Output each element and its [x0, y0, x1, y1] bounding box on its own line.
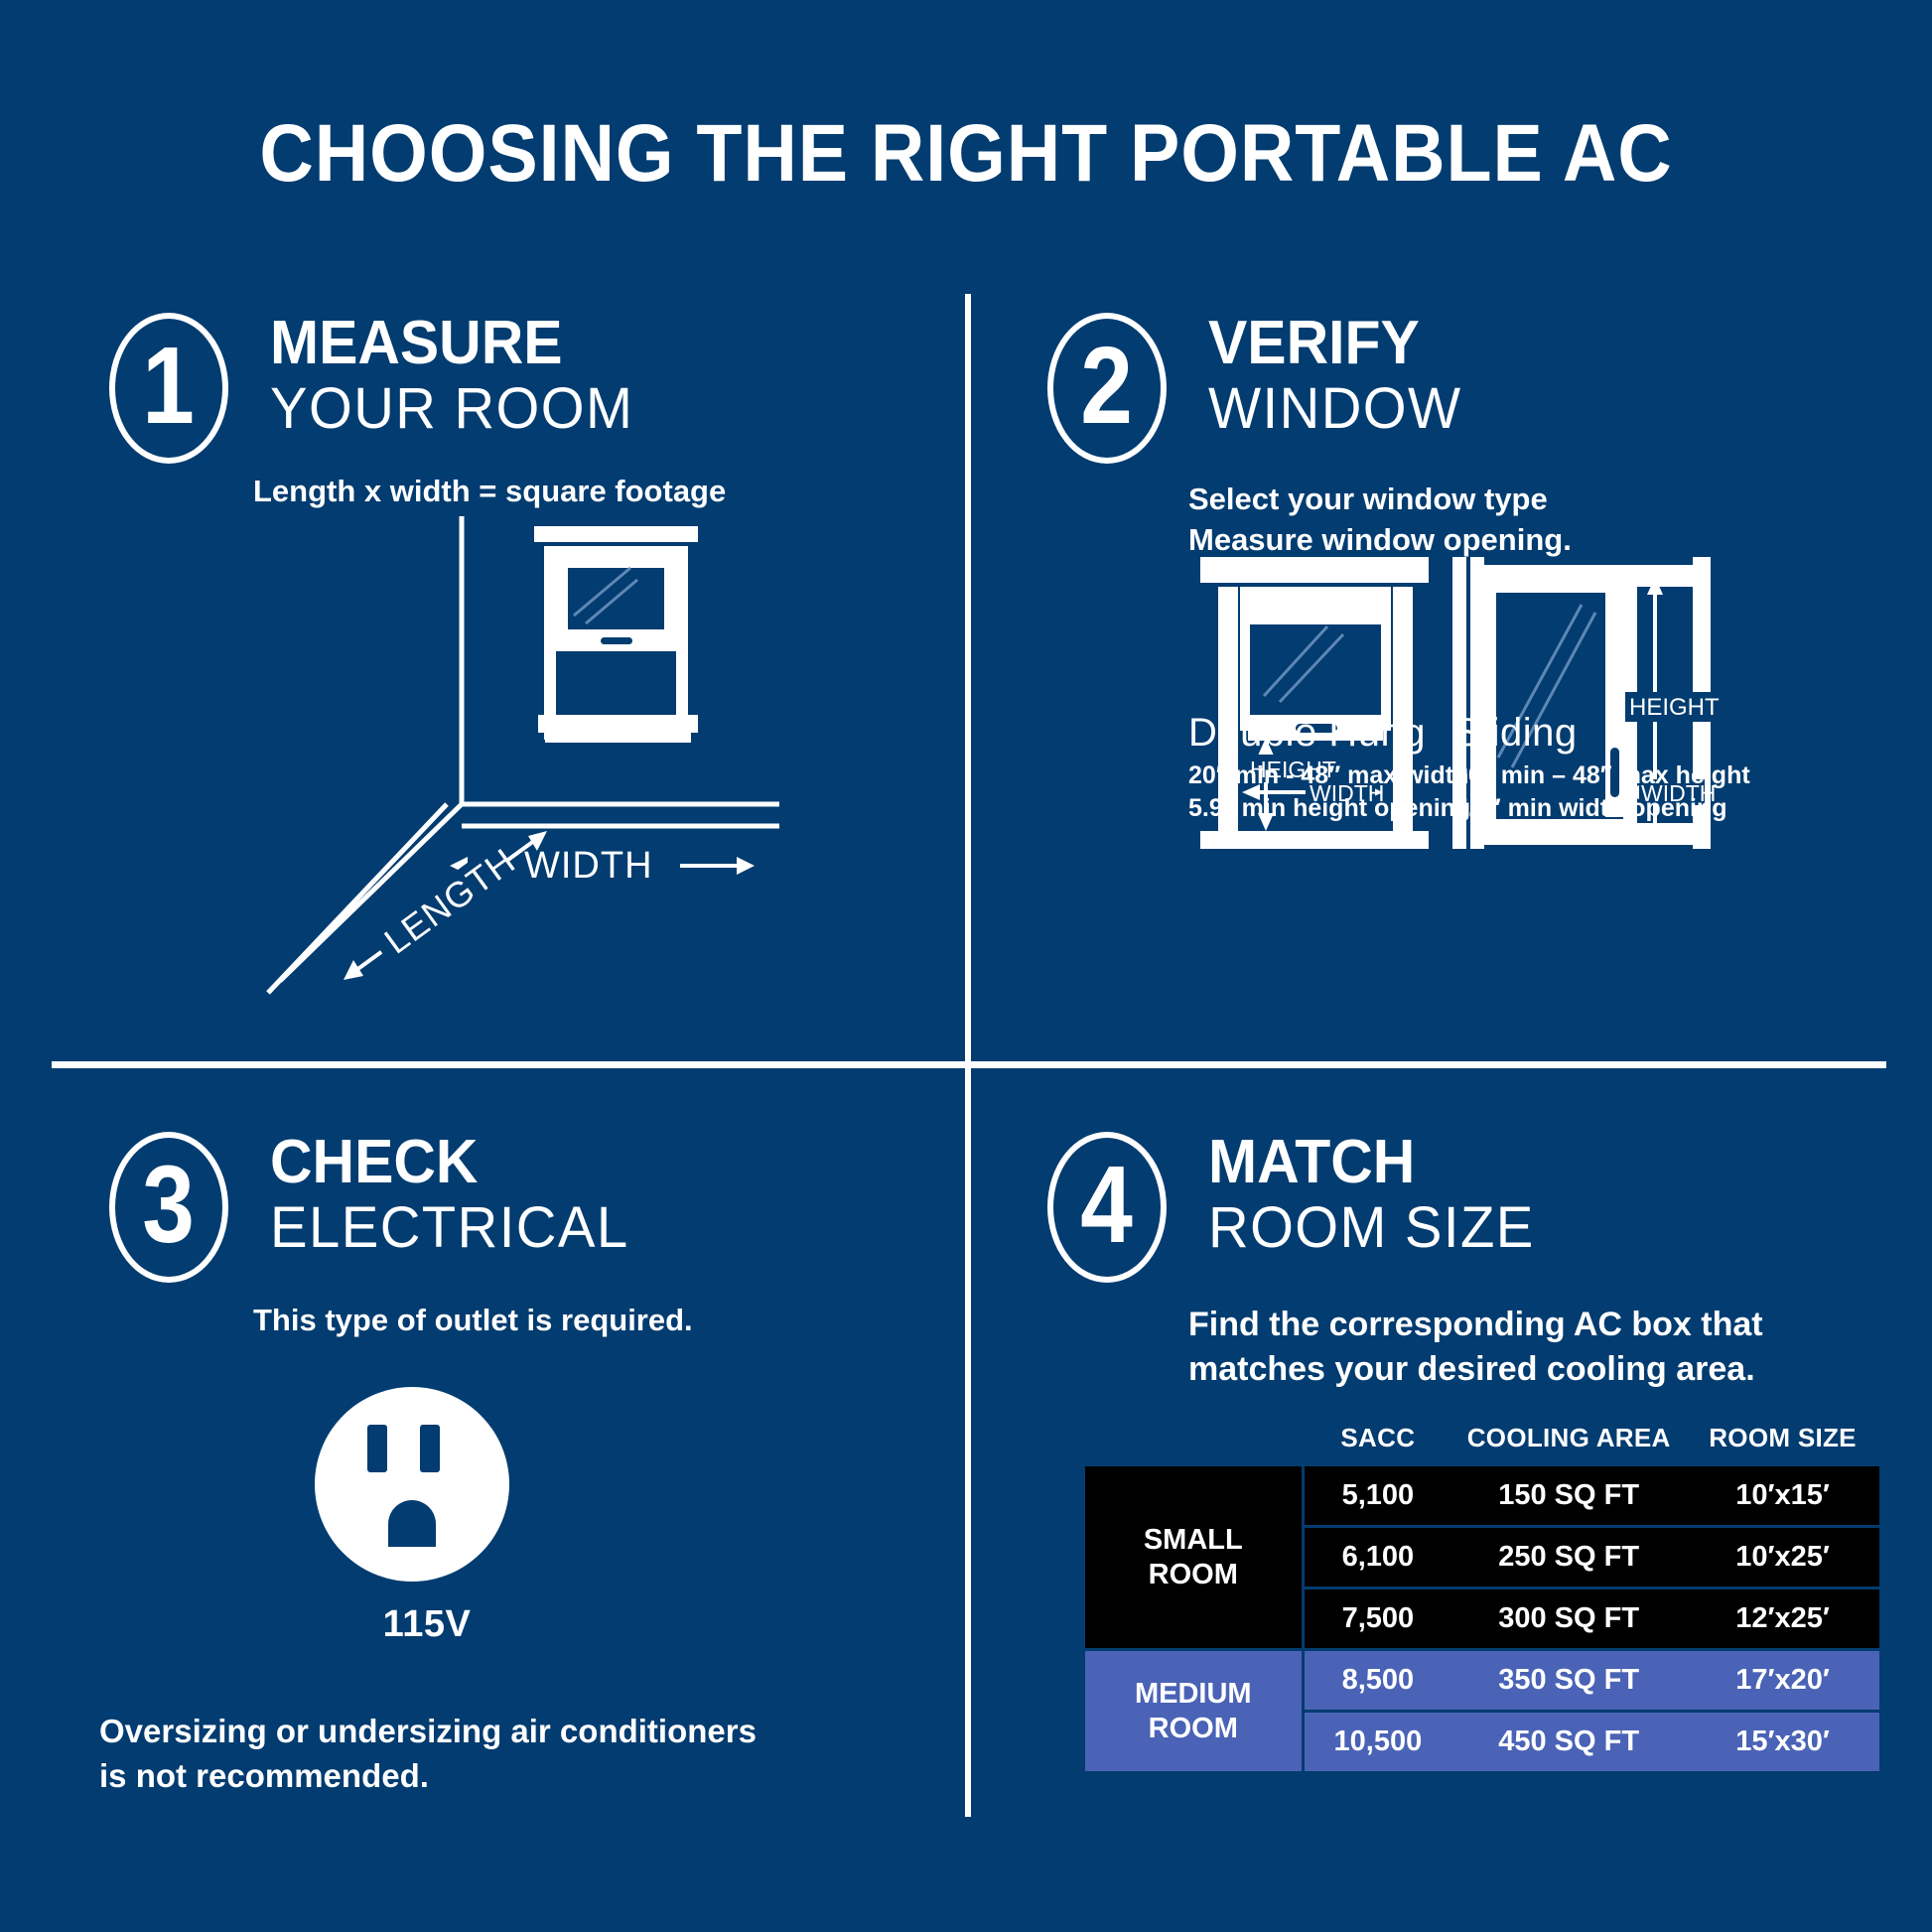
step-1-number-badge: 1	[109, 313, 228, 464]
step-3-footer-line-1: Oversizing or undersizing air conditione…	[99, 1710, 757, 1754]
cell-sacc: 5,100	[1305, 1466, 1452, 1525]
step-3-check-electrical: 3 CHECK ELECTRICAL This type of outlet i…	[109, 1132, 943, 1866]
category-small-line-2: ROOM	[1085, 1558, 1302, 1591]
cell-sacc: 8,500	[1305, 1651, 1452, 1710]
step-4-subtitle: Find the corresponding AC box that match…	[1188, 1303, 1891, 1392]
step-2-subtitle-line-1: Select your window type	[1188, 480, 1881, 520]
table-row: SMALL ROOM 5,100 150 SQ FT 10′x15′	[1085, 1466, 1879, 1525]
cell-cooling-area: 250 SQ FT	[1451, 1528, 1686, 1587]
cell-sacc: 6,100	[1305, 1528, 1452, 1587]
category-cell-small-room: SMALL ROOM	[1085, 1466, 1305, 1648]
vertical-divider	[965, 294, 971, 1817]
sliding-spec-line-2: 5.9″ min width opening	[1454, 792, 1782, 825]
table-row: MEDIUM ROOM 8,500 350 SQ FT 17′x20′	[1085, 1651, 1879, 1710]
step-4-titles: MATCH ROOM SIZE	[1208, 1134, 1545, 1259]
cell-cooling-area: 150 SQ FT	[1451, 1466, 1686, 1525]
step-2-titles: VERIFY WINDOW	[1208, 315, 1470, 440]
category-medium-line-2: ROOM	[1085, 1712, 1302, 1745]
cell-room-size: 12′x25′	[1686, 1589, 1879, 1648]
step-1-title-bold: MEASURE	[270, 315, 626, 373]
step-3-header: 3 CHECK ELECTRICAL	[109, 1132, 943, 1281]
step-2-title-light: WINDOW	[1208, 379, 1462, 440]
step-3-title-light: ELECTRICAL	[270, 1198, 629, 1259]
sliding-spec-line-1: 20″ min – 48″ max height	[1454, 759, 1782, 792]
power-outlet-icon	[308, 1385, 516, 1593]
cell-room-size: 10′x25′	[1686, 1528, 1879, 1587]
step-4-subtitle-line-2: matches your desired cooling area.	[1188, 1347, 1891, 1392]
column-header-category	[1085, 1423, 1305, 1463]
step-4-title-light: ROOM SIZE	[1208, 1198, 1535, 1259]
sliding-name: Sliding	[1454, 710, 1782, 756]
step-1-title-light: YOUR ROOM	[270, 379, 633, 440]
step-1-measure-your-room: 1 MEASURE YOUR ROOM Length x width = squ…	[109, 313, 943, 1028]
step-2-subtitle: Select your window type Measure window o…	[1188, 480, 1881, 561]
step-2-verify-window: 2 VERIFY WINDOW Select your window type …	[1047, 313, 1881, 1028]
cell-cooling-area: 300 SQ FT	[1451, 1589, 1686, 1648]
cell-sacc: 10,500	[1305, 1713, 1452, 1771]
step-1-header: 1 MEASURE YOUR ROOM	[109, 313, 943, 462]
step-3-number-badge: 3	[109, 1132, 228, 1283]
window-caption-sliding: Sliding 20″ min – 48″ max height 5.9″ mi…	[1454, 710, 1782, 824]
category-small-line-1: SMALL	[1085, 1523, 1302, 1557]
category-cell-medium-room: MEDIUM ROOM	[1085, 1651, 1305, 1771]
category-medium-line-1: MEDIUM	[1085, 1677, 1302, 1711]
step-3-subtitle: This type of outlet is required.	[253, 1301, 943, 1341]
cell-room-size: 15′x30′	[1686, 1713, 1879, 1771]
step-4-number-badge: 4	[1047, 1132, 1167, 1283]
step-3-footer-note: Oversizing or undersizing air conditione…	[99, 1710, 757, 1798]
step-2-number-badge: 2	[1047, 313, 1167, 464]
step-2-header: 2 VERIFY WINDOW	[1047, 313, 1881, 462]
cell-room-size: 17′x20′	[1686, 1651, 1879, 1710]
outlet-voltage-label: 115V	[308, 1603, 546, 1646]
room-measurement-diagram: WIDTH LENGTH	[258, 506, 784, 1023]
step-3-number: 3	[143, 1151, 196, 1260]
step-2-title-bold: VERIFY	[1208, 315, 1456, 373]
ac-sizing-table: SACC COOLING AREA ROOM SIZE SMALL ROOM 5…	[1085, 1420, 1879, 1774]
step-3-titles: CHECK ELECTRICAL	[270, 1134, 640, 1259]
step-4-title-bold: MATCH	[1208, 1134, 1528, 1192]
ac-sizing-table-wrap: SACC COOLING AREA ROOM SIZE SMALL ROOM 5…	[1085, 1420, 1879, 1774]
step-4-header: 4 MATCH ROOM SIZE	[1047, 1132, 1891, 1281]
cell-sacc: 7,500	[1305, 1589, 1452, 1648]
step-1-number: 1	[143, 332, 196, 441]
step-1-titles: MEASURE YOUR ROOM	[270, 315, 645, 440]
page-title: CHOOSING THE RIGHT PORTABLE AC	[77, 107, 1855, 201]
step-4-subtitle-line-1: Find the corresponding AC box that	[1188, 1303, 1891, 1347]
step-3-footer-line-2: is not recommended.	[99, 1754, 757, 1799]
cell-cooling-area: 350 SQ FT	[1451, 1651, 1686, 1710]
outlet-illustration-wrap: 115V	[308, 1385, 546, 1646]
table-header-row: SACC COOLING AREA ROOM SIZE	[1085, 1423, 1879, 1463]
column-header-cooling-area: COOLING AREA	[1451, 1423, 1686, 1463]
step-3-title-bold: CHECK	[270, 1134, 621, 1192]
step-2-number: 2	[1081, 332, 1134, 441]
cell-room-size: 10′x15′	[1686, 1466, 1879, 1525]
svg-text:WIDTH: WIDTH	[524, 845, 653, 887]
step-4-match-room-size: 4 MATCH ROOM SIZE Find the corresponding…	[1047, 1132, 1891, 1866]
step-4-number: 4	[1081, 1151, 1134, 1260]
cell-cooling-area: 450 SQ FT	[1451, 1713, 1686, 1771]
column-header-room-size: ROOM SIZE	[1686, 1423, 1879, 1463]
column-header-sacc: SACC	[1305, 1423, 1452, 1463]
sliding-spec: 20″ min – 48″ max height 5.9″ min width …	[1454, 759, 1782, 824]
